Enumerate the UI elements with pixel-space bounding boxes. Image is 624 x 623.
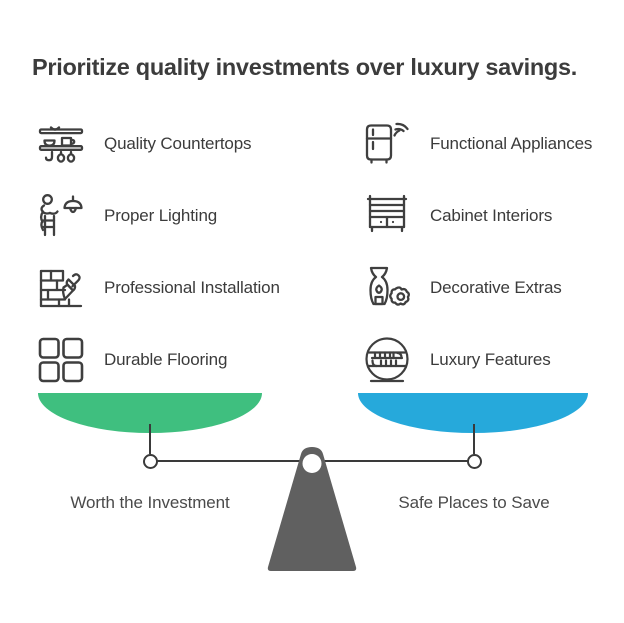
list-item-label: Functional Appliances	[430, 132, 592, 156]
list-item-proper-lighting: Proper Lighting	[32, 180, 297, 252]
list-item-label: Proper Lighting	[104, 204, 217, 228]
infographic-canvas: Prioritize quality investments over luxu…	[0, 0, 624, 623]
scale-pan-right	[358, 393, 588, 433]
list-item-functional-appliances: Functional Appliances	[358, 108, 623, 180]
floor-tiles-icon	[32, 332, 90, 388]
brick-wall-trowel-icon	[32, 260, 90, 316]
list-item-label: Cabinet Interiors	[430, 204, 552, 228]
scale-joint-right	[467, 454, 482, 469]
list-item-label: Decorative Extras	[430, 276, 562, 300]
list-item-label: Durable Flooring	[104, 348, 227, 372]
person-on-ladder-pendant-light-icon	[32, 188, 90, 244]
kitchen-shelf-icon	[32, 116, 90, 172]
scale-beam	[150, 460, 474, 462]
list-item-label: Quality Countertops	[104, 132, 251, 156]
scale-hanger-right	[473, 424, 475, 454]
dishwasher-dome-icon	[358, 332, 416, 388]
list-item-quality-countertops: Quality Countertops	[32, 108, 297, 180]
scale-label-right: Safe Places to Save	[342, 493, 606, 513]
scale-pan-left	[38, 393, 262, 433]
page-title: Prioritize quality investments over luxu…	[32, 52, 602, 82]
list-item-label: Professional Installation	[104, 276, 280, 300]
list-item-durable-flooring: Durable Flooring	[32, 324, 297, 396]
list-item-professional-installation: Professional Installation	[32, 252, 297, 324]
cabinet-shelves-icon	[358, 188, 416, 244]
scale-hanger-left	[149, 424, 151, 454]
right-column: Functional Appliances Cabinet Interiors	[358, 108, 623, 396]
vase-flower-icon	[358, 260, 416, 316]
left-column: Quality Countertops Proper Lighting	[32, 108, 297, 396]
list-item-decorative-extras: Decorative Extras	[358, 252, 623, 324]
scale-joint-left	[143, 454, 158, 469]
scale-label-left: Worth the Investment	[18, 493, 282, 513]
list-item-label: Luxury Features	[430, 348, 551, 372]
list-item-luxury-features: Luxury Features	[358, 324, 623, 396]
list-item-cabinet-interiors: Cabinet Interiors	[358, 180, 623, 252]
smart-refrigerator-icon	[358, 116, 416, 172]
